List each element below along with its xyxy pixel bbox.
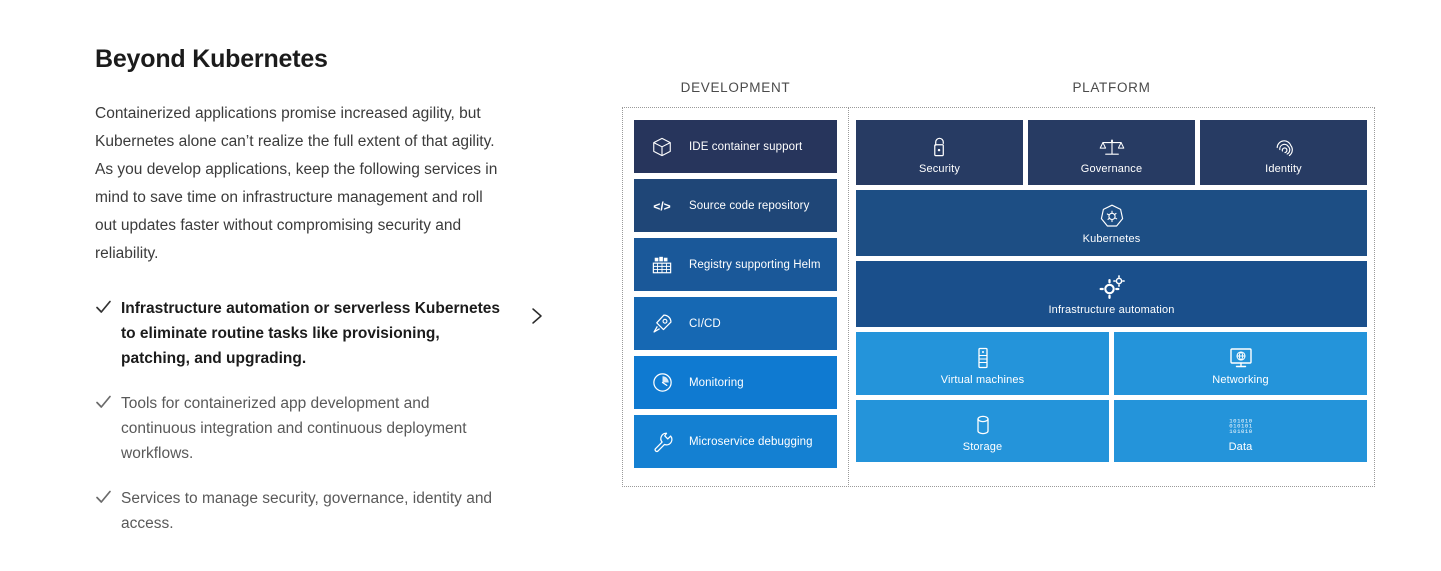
- list-item[interactable]: Services to manage security, governance,…: [95, 486, 565, 536]
- wrench-icon: [648, 428, 676, 456]
- chevron-right-icon[interactable]: [525, 304, 549, 328]
- content-panel: Beyond Kubernetes Containerized applicat…: [95, 44, 565, 556]
- platform-card-governance[interactable]: Governance: [1028, 120, 1195, 185]
- dev-card-microservice-debugging[interactable]: Microservice debugging: [634, 415, 837, 468]
- platform-column-header: PLATFORM: [848, 80, 1375, 95]
- gauge-icon: [648, 369, 676, 397]
- dev-card-ci-cd[interactable]: CI/CD: [634, 297, 837, 350]
- platform-row-infrastructure-automation: Infrastructure automation: [856, 261, 1367, 327]
- dev-card-label: Source code repository: [689, 199, 809, 213]
- check-icon: [95, 391, 112, 413]
- dev-card-registry-supporting-helm[interactable]: Registry supporting Helm: [634, 238, 837, 291]
- fingerprint-icon: [1269, 131, 1299, 159]
- check-icon: [95, 486, 112, 508]
- development-card-stack: IDE container support </> Source code re…: [634, 120, 837, 474]
- page-title: Beyond Kubernetes: [95, 44, 565, 74]
- architecture-diagram: DEVELOPMENT PLATFORM IDE container suppo…: [615, 80, 1375, 490]
- rocket-icon: [648, 310, 676, 338]
- dev-card-ide-container-support[interactable]: IDE container support: [634, 120, 837, 173]
- platform-row-compute-network: Virtual machines Networking: [856, 332, 1367, 395]
- registry-icon: [648, 251, 676, 279]
- platform-card-label: Networking: [1212, 374, 1269, 386]
- check-icon: [95, 296, 112, 318]
- server-icon: [968, 342, 998, 370]
- list-item[interactable]: Infrastructure automation or serverless …: [95, 296, 565, 371]
- svg-text:101010: 101010: [1229, 428, 1253, 435]
- platform-card-infrastructure-automation[interactable]: Infrastructure automation: [856, 261, 1367, 327]
- platform-card-security[interactable]: Security: [856, 120, 1023, 185]
- platform-card-identity[interactable]: Identity: [1200, 120, 1367, 185]
- binary-icon: 101010 010101 101010: [1226, 409, 1256, 437]
- platform-card-grid: Security Governance: [856, 120, 1367, 462]
- dev-card-label: Monitoring: [689, 376, 744, 390]
- platform-card-label: Security: [919, 163, 960, 175]
- kubernetes-helm-icon: [1097, 201, 1127, 229]
- feature-bullet-list: Infrastructure automation or serverless …: [95, 296, 565, 536]
- dev-card-source-code-repository[interactable]: </> Source code repository: [634, 179, 837, 232]
- svg-text:</>: </>: [653, 199, 671, 213]
- platform-card-label: Virtual machines: [941, 374, 1025, 386]
- platform-card-kubernetes[interactable]: Kubernetes: [856, 190, 1367, 256]
- platform-card-label: Identity: [1265, 163, 1302, 175]
- database-icon: [968, 409, 998, 437]
- platform-row-governance: Security Governance: [856, 120, 1367, 185]
- platform-card-label: Data: [1229, 441, 1253, 453]
- gears-icon: [1097, 272, 1127, 300]
- platform-card-label: Governance: [1081, 163, 1142, 175]
- dev-card-label: Registry supporting Helm: [689, 258, 821, 272]
- platform-card-networking[interactable]: Networking: [1114, 332, 1367, 395]
- padlock-icon: [925, 131, 955, 159]
- dev-card-label: Microservice debugging: [689, 435, 813, 449]
- dev-card-label: IDE container support: [689, 140, 802, 154]
- platform-card-label: Storage: [963, 441, 1003, 453]
- intro-paragraph: Containerized applications promise incre…: [95, 100, 503, 268]
- monitor-globe-icon: [1226, 342, 1256, 370]
- list-item[interactable]: Tools for containerized app development …: [95, 391, 565, 466]
- platform-card-label: Kubernetes: [1083, 233, 1141, 245]
- cube-icon: [648, 133, 676, 161]
- list-item-label: Infrastructure automation or serverless …: [121, 296, 503, 371]
- dev-card-label: CI/CD: [689, 317, 721, 331]
- development-column-header: DEVELOPMENT: [622, 80, 849, 95]
- scales-icon: [1097, 131, 1127, 159]
- dev-card-monitoring[interactable]: Monitoring: [634, 356, 837, 409]
- column-headers: DEVELOPMENT PLATFORM: [615, 80, 1375, 106]
- platform-card-storage[interactable]: Storage: [856, 400, 1109, 462]
- platform-card-label: Infrastructure automation: [1048, 304, 1174, 316]
- list-item-label: Services to manage security, governance,…: [121, 486, 503, 536]
- platform-card-virtual-machines[interactable]: Virtual machines: [856, 332, 1109, 395]
- platform-row-kubernetes: Kubernetes: [856, 190, 1367, 256]
- platform-row-storage-data: Storage 101010 010101 101010 Data: [856, 400, 1367, 462]
- list-item-label: Tools for containerized app development …: [121, 391, 503, 466]
- code-icon: </>: [648, 192, 676, 220]
- platform-card-data[interactable]: 101010 010101 101010 Data: [1114, 400, 1367, 462]
